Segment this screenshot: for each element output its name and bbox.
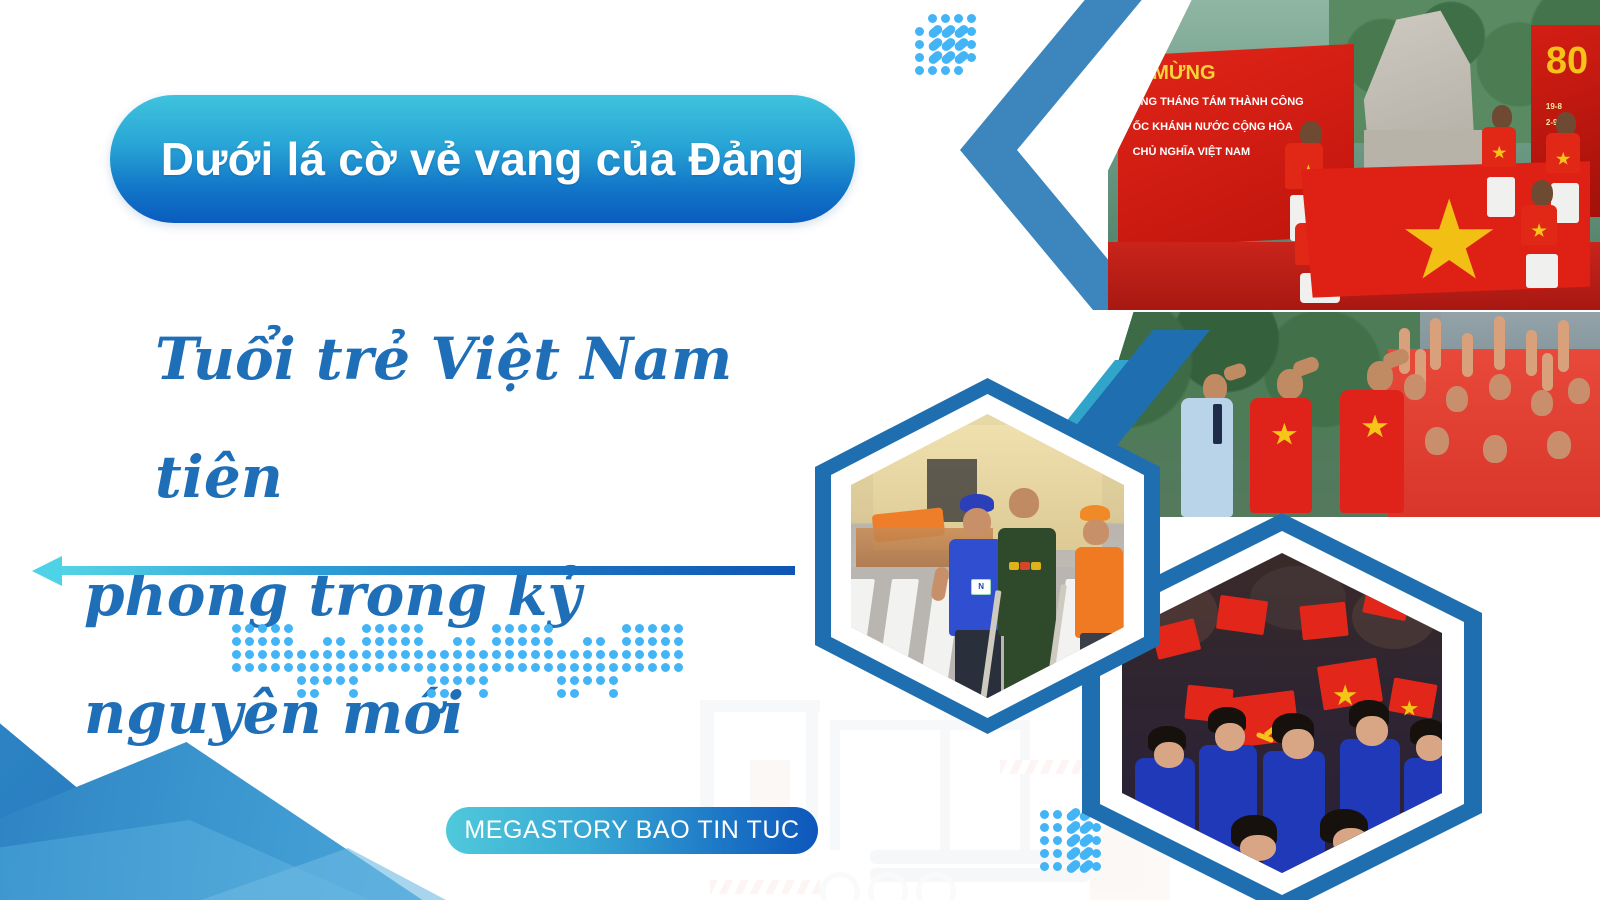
decor-dot	[297, 650, 306, 659]
decor-dot	[648, 650, 657, 659]
decor-dot	[466, 676, 475, 685]
decor-dot	[310, 663, 319, 672]
poster-canvas: Dưới lá cờ vẻ vang của Đảng Tuổi trẻ Việ…	[0, 0, 1600, 900]
decor-dot	[492, 650, 501, 659]
decor-dot	[375, 624, 384, 633]
decor-dot	[557, 663, 566, 672]
decor-dot	[232, 637, 241, 646]
photo-flag-monument: MỪNG ÁNG THÁNG TÁM THÀNH CÔNG ỐC KHÁNH N…	[1108, 0, 1600, 310]
decor-dot	[336, 676, 345, 685]
decor-dot	[915, 53, 924, 62]
decor-dot	[518, 650, 527, 659]
decor-dot	[544, 650, 553, 659]
decor-dot	[583, 650, 592, 659]
decor-dot	[414, 637, 423, 646]
dot-wave-pattern	[232, 622, 692, 692]
decor-dot	[661, 637, 670, 646]
decor-dot	[245, 624, 254, 633]
decor-dot	[544, 624, 553, 633]
decor-dot	[479, 663, 488, 672]
decor-dot	[427, 676, 436, 685]
decor-dot	[284, 624, 293, 633]
decor-dot	[297, 676, 306, 685]
decor-dot	[505, 624, 514, 633]
decor-dot	[518, 663, 527, 672]
decor-dot	[336, 650, 345, 659]
decor-dot	[915, 27, 924, 36]
decor-dot	[557, 689, 566, 698]
decor-dot	[661, 650, 670, 659]
decor-dot	[453, 676, 462, 685]
decor-dot	[375, 663, 384, 672]
decor-dot	[648, 663, 657, 672]
decor-dot	[531, 663, 540, 672]
arrow-left-icon	[32, 556, 62, 586]
decor-dot	[440, 676, 449, 685]
decor-dot	[232, 663, 241, 672]
footer-pill: MEGASTORY BAO TIN TUC	[446, 807, 818, 854]
decor-dot	[505, 650, 514, 659]
decor-dot	[310, 676, 319, 685]
arrow-shaft	[55, 566, 795, 575]
decor-dot	[674, 624, 683, 633]
decor-dot	[271, 663, 280, 672]
decor-dot	[915, 40, 924, 49]
decor-dot	[349, 663, 358, 672]
decor-dot	[622, 663, 631, 672]
decor-dot	[453, 663, 462, 672]
decor-dot	[492, 624, 501, 633]
decor-dot	[596, 650, 605, 659]
decor-dot	[401, 637, 410, 646]
decor-dot	[531, 624, 540, 633]
decor-dot	[232, 624, 241, 633]
decor-dot	[518, 624, 527, 633]
headline-line-1: Tuổi trẻ Việt Nam tiên	[80, 300, 820, 536]
decor-dot	[388, 650, 397, 659]
decor-dot	[635, 637, 644, 646]
decor-dot	[362, 663, 371, 672]
decor-dot	[427, 689, 436, 698]
decor-dot	[427, 663, 436, 672]
decor-dot	[323, 650, 332, 659]
decor-dot	[570, 689, 579, 698]
decor-dot	[440, 663, 449, 672]
decor-dot	[661, 663, 670, 672]
decor-dot	[336, 637, 345, 646]
decor-dot	[941, 14, 950, 23]
decor-dot	[622, 624, 631, 633]
decor-dot	[505, 663, 514, 672]
decor-dot	[531, 650, 540, 659]
decor-dot	[375, 637, 384, 646]
decor-dot	[928, 14, 937, 23]
decor-dot	[401, 663, 410, 672]
decor-dot	[544, 637, 553, 646]
decor-dot	[596, 663, 605, 672]
decor-dot	[323, 637, 332, 646]
decor-dot	[915, 66, 924, 75]
decor-dot	[336, 663, 345, 672]
footer-pill-label: MEGASTORY BAO TIN TUC	[464, 816, 799, 845]
decor-dot	[674, 637, 683, 646]
decor-dot	[271, 650, 280, 659]
decor-dot	[492, 663, 501, 672]
decor-dot	[479, 689, 488, 698]
decor-dot	[479, 650, 488, 659]
decor-dot	[466, 650, 475, 659]
decor-dot	[648, 637, 657, 646]
decor-dot	[310, 650, 319, 659]
decor-dot	[258, 624, 267, 633]
decor-dot	[284, 637, 293, 646]
decor-dot	[557, 650, 566, 659]
decor-dot	[941, 66, 950, 75]
hexagon-photo-volunteer-veteran: N	[815, 378, 1160, 734]
decor-dot	[928, 66, 937, 75]
decor-dot	[557, 676, 566, 685]
decor-dot	[401, 624, 410, 633]
decor-dot	[414, 663, 423, 672]
decor-dot	[648, 624, 657, 633]
decor-dot	[284, 663, 293, 672]
decor-dot	[440, 650, 449, 659]
decor-dot	[349, 650, 358, 659]
decor-dot	[362, 624, 371, 633]
decor-dot	[375, 650, 384, 659]
decor-dot	[258, 637, 267, 646]
decor-dot	[388, 637, 397, 646]
decor-dot	[492, 637, 501, 646]
decor-dot	[453, 650, 462, 659]
decor-dot	[635, 624, 644, 633]
decor-dot	[362, 650, 371, 659]
decor-dot	[466, 663, 475, 672]
decor-dot	[388, 663, 397, 672]
decor-dot	[596, 676, 605, 685]
title-pill: Dưới lá cờ vẻ vang của Đảng	[110, 95, 855, 223]
decor-dot	[284, 650, 293, 659]
decor-dot	[323, 676, 332, 685]
decor-dot	[349, 689, 358, 698]
decor-dot	[245, 650, 254, 659]
title-pill-label: Dưới lá cờ vẻ vang của Đảng	[161, 132, 805, 186]
decor-dot	[505, 637, 514, 646]
decor-dot	[362, 637, 371, 646]
decor-dot	[609, 676, 618, 685]
decor-dot	[609, 663, 618, 672]
decor-dot	[609, 650, 618, 659]
decor-dot	[570, 650, 579, 659]
decor-dot	[583, 663, 592, 672]
decor-dot	[297, 663, 306, 672]
decor-dot	[570, 663, 579, 672]
decor-dot	[661, 624, 670, 633]
decor-dot	[271, 637, 280, 646]
decor-dot	[518, 637, 527, 646]
decor-dot	[414, 650, 423, 659]
decor-dot	[479, 676, 488, 685]
decor-dot	[271, 624, 280, 633]
decor-dot	[401, 650, 410, 659]
decor-dot	[245, 637, 254, 646]
decor-dot	[258, 663, 267, 672]
decor-dot	[310, 689, 319, 698]
decor-dot	[622, 650, 631, 659]
decor-dot	[453, 637, 462, 646]
decor-dot	[544, 663, 553, 672]
decor-dot	[635, 650, 644, 659]
headline: Tuổi trẻ Việt Nam tiên phong trong kỷ ng…	[80, 300, 820, 772]
decor-dot	[609, 689, 618, 698]
decor-dot	[323, 663, 332, 672]
decor-dot	[232, 650, 241, 659]
decor-dot	[596, 637, 605, 646]
decor-dot	[388, 624, 397, 633]
decor-dot	[258, 650, 267, 659]
decor-dot	[297, 689, 306, 698]
decor-dot	[583, 676, 592, 685]
decor-dot	[414, 624, 423, 633]
decor-dot	[570, 676, 579, 685]
decor-dot	[531, 637, 540, 646]
decor-dot	[674, 663, 683, 672]
decor-dot	[622, 637, 631, 646]
decor-dot	[635, 663, 644, 672]
decor-dot	[245, 663, 254, 672]
decor-dot	[427, 650, 436, 659]
decor-dot	[440, 689, 449, 698]
decor-dot	[674, 650, 683, 659]
decor-dot	[583, 637, 592, 646]
decor-dot	[466, 637, 475, 646]
decor-dot	[349, 676, 358, 685]
